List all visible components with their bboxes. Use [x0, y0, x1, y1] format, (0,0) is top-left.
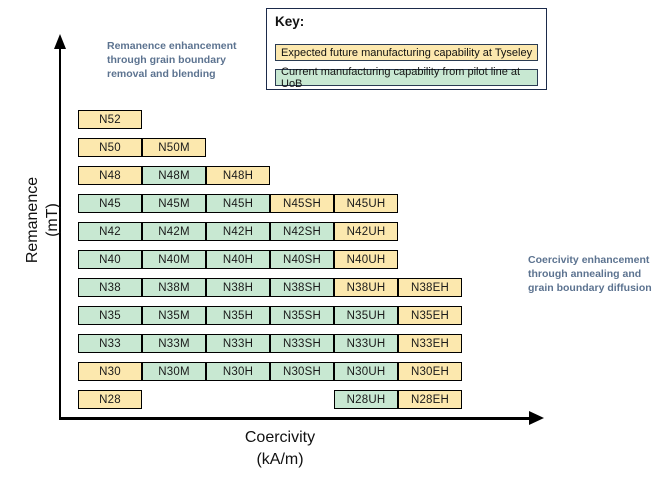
grade-cell-n33uh[interactable]: N33UH [334, 334, 398, 353]
grade-cell-n35eh[interactable]: N35EH [398, 306, 462, 325]
x-axis-arrow-icon [529, 411, 544, 425]
grade-cell-n50[interactable]: N50 [78, 138, 142, 157]
grade-cell-n42uh[interactable]: N42UH [334, 222, 398, 241]
x-axis-line [59, 417, 531, 420]
grade-cell-n45[interactable]: N45 [78, 194, 142, 213]
grade-cell-n30m[interactable]: N30M [142, 362, 206, 381]
grade-cell-n42sh[interactable]: N42SH [270, 222, 334, 241]
y-axis-label: Remanence (mT) [23, 140, 63, 300]
grade-cell-n28eh[interactable]: N28EH [398, 390, 462, 409]
annotation-remanence: Remanence enhancement through grain boun… [107, 39, 252, 81]
grade-cell-n48m[interactable]: N48M [142, 166, 206, 185]
grade-cell-n38uh[interactable]: N38UH [334, 278, 398, 297]
grade-cell-n30h[interactable]: N30H [206, 362, 270, 381]
grade-cell-n30uh[interactable]: N30UH [334, 362, 398, 381]
grade-cell-n35uh[interactable]: N35UH [334, 306, 398, 325]
grade-cell-n33[interactable]: N33 [78, 334, 142, 353]
grade-cell-n35[interactable]: N35 [78, 306, 142, 325]
grade-cell-n48[interactable]: N48 [78, 166, 142, 185]
grade-cell-n45h[interactable]: N45H [206, 194, 270, 213]
grade-cell-n38eh[interactable]: N38EH [398, 278, 462, 297]
grade-cell-n50m[interactable]: N50M [142, 138, 206, 157]
grade-cell-n33m[interactable]: N33M [142, 334, 206, 353]
grade-cell-n33sh[interactable]: N33SH [270, 334, 334, 353]
grade-cell-n40[interactable]: N40 [78, 250, 142, 269]
grade-cell-n40sh[interactable]: N40SH [270, 250, 334, 269]
grade-cell-n30eh[interactable]: N30EH [398, 362, 462, 381]
grade-cell-n38[interactable]: N38 [78, 278, 142, 297]
grade-cell-n42m[interactable]: N42M [142, 222, 206, 241]
key-legend: Key: Expected future manufacturing capab… [266, 8, 547, 90]
grade-cell-n38m[interactable]: N38M [142, 278, 206, 297]
chart-canvas: Remanence (mT) Coercivity (kA/m) N52N50N… [0, 0, 662, 483]
grade-cell-n42[interactable]: N42 [78, 222, 142, 241]
key-item-future: Expected future manufacturing capability… [275, 44, 538, 61]
annotation-coercivity: Coercivity enhancement through annealing… [528, 253, 660, 295]
grade-cell-n40h[interactable]: N40H [206, 250, 270, 269]
grade-cell-n30[interactable]: N30 [78, 362, 142, 381]
grade-cell-n42h[interactable]: N42H [206, 222, 270, 241]
key-title: Key: [275, 14, 304, 29]
grade-cell-n48h[interactable]: N48H [206, 166, 270, 185]
x-axis-label: Coercivity (kA/m) [200, 427, 360, 471]
grade-cell-n40m[interactable]: N40M [142, 250, 206, 269]
grade-cell-n40uh[interactable]: N40UH [334, 250, 398, 269]
grade-cell-n38sh[interactable]: N38SH [270, 278, 334, 297]
grade-cell-n30sh[interactable]: N30SH [270, 362, 334, 381]
grade-cell-n33h[interactable]: N33H [206, 334, 270, 353]
grade-cell-n45sh[interactable]: N45SH [270, 194, 334, 213]
grade-cell-n45m[interactable]: N45M [142, 194, 206, 213]
grade-cell-n28[interactable]: N28 [78, 390, 142, 409]
grade-cell-n35h[interactable]: N35H [206, 306, 270, 325]
y-axis-arrow-icon [54, 34, 66, 49]
key-item-current: Current manufacturing capability from pi… [275, 69, 538, 86]
grade-cell-n45uh[interactable]: N45UH [334, 194, 398, 213]
grade-cell-n35sh[interactable]: N35SH [270, 306, 334, 325]
grade-cell-n38h[interactable]: N38H [206, 278, 270, 297]
grade-cell-n52[interactable]: N52 [78, 110, 142, 129]
grade-cell-n33eh[interactable]: N33EH [398, 334, 462, 353]
grade-cell-n35m[interactable]: N35M [142, 306, 206, 325]
grade-cell-n28uh[interactable]: N28UH [334, 390, 398, 409]
